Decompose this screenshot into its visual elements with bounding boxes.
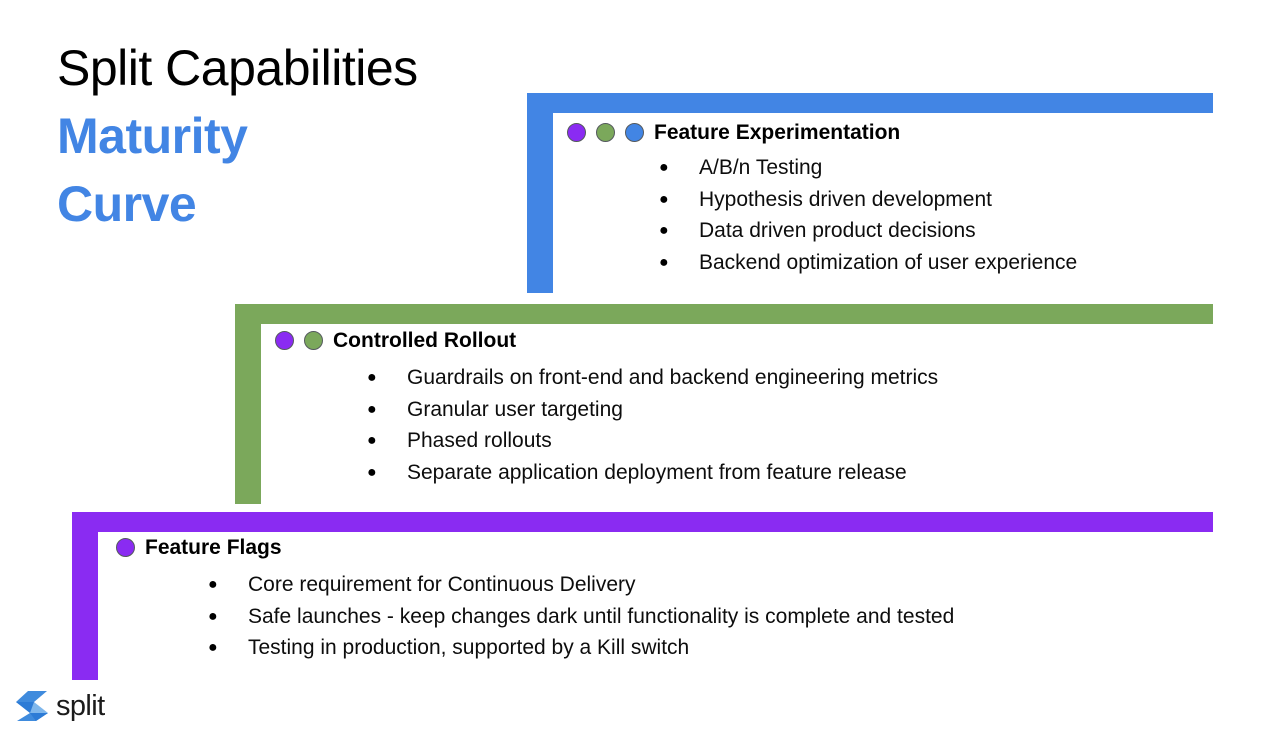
tier-heading-label: Feature Experimentation <box>654 122 900 143</box>
tier-bullet-list: ● Core requirement for Continuous Delive… <box>208 569 954 664</box>
tier-bullet-list: ● Guardrails on front-end and backend en… <box>367 362 938 488</box>
list-item-label: Phased rollouts <box>407 429 552 452</box>
list-item: ● Separate application deployment from f… <box>367 457 938 489</box>
bullet-dot-icon: ● <box>208 569 218 601</box>
page-title: Split Capabilities Maturity Curve <box>57 34 487 238</box>
tier-content: Feature Experimentation ● A/B/n Testing … <box>567 122 1077 278</box>
tier-bar-top <box>72 512 1213 532</box>
tier-bullet-list: ● A/B/n Testing ● Hypothesis driven deve… <box>659 152 1077 278</box>
bullet-dot-icon: ● <box>208 601 218 633</box>
slide-canvas: Split Capabilities Maturity Curve Featur… <box>0 0 1262 735</box>
tier-bar-top <box>235 304 1213 324</box>
list-item: ● Guardrails on front-end and backend en… <box>367 362 938 394</box>
split-logo: split <box>14 686 105 726</box>
list-item-label: Backend optimization of user experience <box>699 251 1077 274</box>
tier-feature-experimentation: Feature Experimentation ● A/B/n Testing … <box>527 93 1213 293</box>
maturity-dot-purple-icon <box>275 331 294 350</box>
tier-heading-label: Feature Flags <box>145 537 282 558</box>
list-item: ● Backend optimization of user experienc… <box>659 247 1077 279</box>
bullet-dot-icon: ● <box>367 362 377 394</box>
tier-content: Feature Flags ● Core requirement for Con… <box>116 537 954 664</box>
list-item-label: Safe launches - keep changes dark until … <box>248 605 954 628</box>
list-item-label: Separate application deployment from fea… <box>407 461 907 484</box>
tier-heading-label: Controlled Rollout <box>333 330 516 351</box>
list-item: ● Core requirement for Continuous Delive… <box>208 569 954 601</box>
bullet-dot-icon: ● <box>367 457 377 489</box>
bullet-dot-icon: ● <box>659 215 669 247</box>
list-item: ● Granular user targeting <box>367 394 938 426</box>
title-line-1: Split Capabilities <box>57 34 487 102</box>
maturity-dot-blue-icon <box>625 123 644 142</box>
list-item-label: Core requirement for Continuous Delivery <box>248 573 636 596</box>
title-line-2: Maturity <box>57 102 487 170</box>
list-item: ● Phased rollouts <box>367 425 938 457</box>
maturity-dot-green-icon <box>304 331 323 350</box>
bullet-dot-icon: ● <box>208 632 218 664</box>
tier-heading-row: Controlled Rollout <box>275 330 938 351</box>
bullet-dot-icon: ● <box>367 394 377 426</box>
list-item: ● Testing in production, supported by a … <box>208 632 954 664</box>
split-wordmark: split <box>56 692 105 721</box>
list-item: ● Safe launches - keep changes dark unti… <box>208 601 954 633</box>
list-item: ● Hypothesis driven development <box>659 184 1077 216</box>
tier-feature-flags: Feature Flags ● Core requirement for Con… <box>72 512 1213 680</box>
tier-heading-row: Feature Experimentation <box>567 122 1077 143</box>
maturity-dot-purple-icon <box>116 538 135 557</box>
list-item: ● A/B/n Testing <box>659 152 1077 184</box>
list-item-label: Hypothesis driven development <box>699 188 992 211</box>
maturity-dot-purple-icon <box>567 123 586 142</box>
list-item: ● Data driven product decisions <box>659 215 1077 247</box>
list-item-label: Guardrails on front-end and backend engi… <box>407 366 938 389</box>
title-line-3: Curve <box>57 170 487 238</box>
tier-bar-left <box>527 93 553 293</box>
list-item-label: Testing in production, supported by a Ki… <box>248 636 689 659</box>
tier-bar-left <box>235 304 261 504</box>
maturity-dot-green-icon <box>596 123 615 142</box>
tier-heading-row: Feature Flags <box>116 537 954 558</box>
bullet-dot-icon: ● <box>659 247 669 279</box>
list-item-label: Granular user targeting <box>407 398 623 421</box>
list-item-label: Data driven product decisions <box>699 219 976 242</box>
split-chevron-logo-icon <box>14 689 50 723</box>
tier-controlled-rollout: Controlled Rollout ● Guardrails on front… <box>235 304 1213 504</box>
tier-bar-left <box>72 512 98 680</box>
bullet-dot-icon: ● <box>367 425 377 457</box>
tier-bar-top <box>527 93 1213 113</box>
tier-content: Controlled Rollout ● Guardrails on front… <box>275 330 938 488</box>
bullet-dot-icon: ● <box>659 152 669 184</box>
list-item-label: A/B/n Testing <box>699 156 822 179</box>
bullet-dot-icon: ● <box>659 184 669 216</box>
